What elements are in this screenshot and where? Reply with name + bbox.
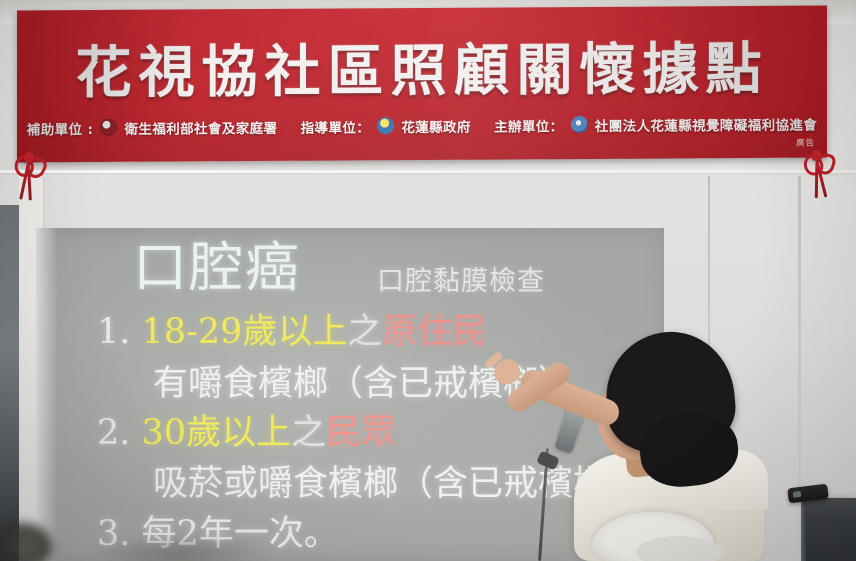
sponsor-label: 補助單位 : bbox=[27, 118, 94, 138]
photo-scene: 花視協社區照顧關懷據點 補助單位 : 衛生福利部社會及家庭署 指導單位： 花蓮縣… bbox=[0, 0, 856, 561]
doorway-shadow bbox=[0, 205, 19, 561]
organizer-name: 社團法人花蓮縣視覺障礙福利協進會 bbox=[595, 114, 817, 135]
slide-item-2-number: 2. bbox=[97, 413, 130, 453]
event-banner: 花視協社區照顧關懷據點 補助單位 : 衛生福利部社會及家庭署 指導單位： 花蓮縣… bbox=[17, 6, 827, 163]
guidance-label: 指導單位： bbox=[301, 116, 371, 136]
slide-subtitle: 口腔黏膜檢查 bbox=[377, 268, 545, 295]
foreground-blur bbox=[96, 540, 266, 561]
sponsor-name: 衛生福利部社會及家庭署 bbox=[125, 117, 278, 138]
slide-item-1-yellow: 18-29歲以上 bbox=[142, 312, 348, 352]
slide-item-2: 2. 30歲以上之民眾 bbox=[97, 416, 396, 451]
guidance-name: 花蓮縣政府 bbox=[401, 116, 471, 136]
wall-right-edge bbox=[798, 176, 801, 506]
slide-item-1-neutral: 之 bbox=[347, 312, 382, 352]
slide-item-2-yellow: 30歲以上 bbox=[142, 413, 292, 453]
banner-credits-line: 補助單位 : 衛生福利部社會及家庭署 指導單位： 花蓮縣政府 主辦單位： 社團法… bbox=[17, 114, 827, 139]
ministry-of-health-welfare-logo-icon bbox=[100, 118, 117, 135]
banner-title: 花視協社區照顧關懷據點 bbox=[17, 24, 827, 110]
advertisement-mark: 廣告 bbox=[796, 137, 815, 149]
visually-impaired-association-logo-icon bbox=[571, 115, 588, 132]
organizer-label: 主辦單位： bbox=[494, 115, 564, 135]
presenter-wristband bbox=[536, 450, 560, 470]
wall-monitor bbox=[806, 498, 856, 561]
slide-title: 口腔癌 bbox=[133, 241, 301, 295]
seated-attendee-hair-lower bbox=[636, 536, 722, 561]
slide-item-2-red: 民眾 bbox=[326, 413, 396, 453]
slide-item-1-number: 1. bbox=[97, 312, 130, 352]
hualien-county-government-logo-icon bbox=[377, 117, 394, 134]
slide-item-1-red: 原住民 bbox=[382, 312, 487, 352]
slide-item-1: 1. 18-29歲以上之原住民 bbox=[97, 315, 487, 350]
slide-item-2-neutral: 之 bbox=[291, 413, 326, 453]
wall-seam bbox=[0, 170, 856, 173]
